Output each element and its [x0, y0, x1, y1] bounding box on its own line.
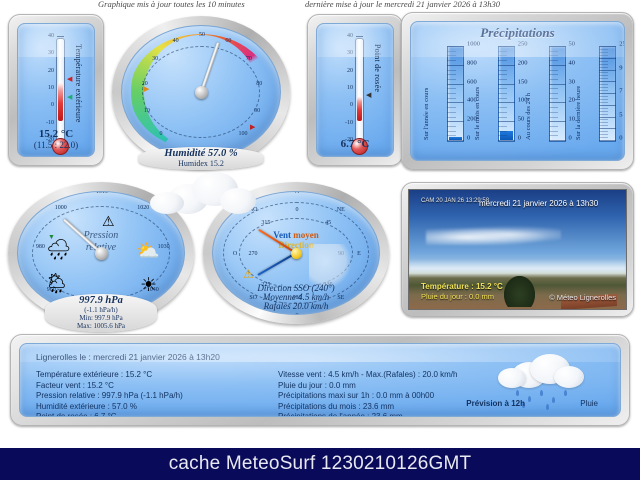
wind-degree-label: 270: [249, 251, 258, 257]
pressure-max: Max: 1005.6 hPa: [45, 322, 157, 330]
status-bar-text: cache MeteoSurf 1230210126GMT: [169, 453, 472, 475]
dewpoint-scale: 403020100-10-20: [329, 36, 355, 144]
precipitation-tick: [599, 70, 616, 71]
wind-gauge-face: NNEESESSOONO04590135180225270315 Vent mo…: [212, 191, 380, 315]
webcam-cloud: [426, 226, 561, 245]
precipitation-minor-tick: [549, 135, 558, 136]
rain-icon: 🌧: [46, 240, 71, 260]
precipitation-minor-tick: [549, 126, 558, 127]
precipitation-minor-tick: [549, 74, 558, 75]
dewpoint-marker-icon: ◀: [366, 92, 371, 99]
precipitation-tick: [447, 46, 464, 47]
precipitation-minor-tick: [447, 98, 456, 99]
status-bar: cache MeteoSurf 1230210126GMT: [0, 448, 640, 480]
precipitation-column: Sur le mois en cours25020015010050023.0 …: [468, 44, 519, 156]
summary-face: Lignerolles le : mercredi 21 janvier 202…: [19, 343, 621, 417]
temperature-value: 15.2 °C: [18, 128, 94, 140]
webcam-temperature: Température : 15.2 °C: [421, 282, 503, 291]
precipitation-column-label: Sur le mois en cours: [474, 50, 481, 140]
precipitation-minor-tick: [498, 135, 507, 136]
precipitation-minor-tick: [599, 119, 608, 120]
partly-sunny-icon: ⛅: [136, 242, 160, 261]
precipitation-minor-tick: [498, 98, 507, 99]
humidity-scale-label: 40: [173, 38, 179, 44]
summary-line: Vitesse vent : 4.5 km/h - Max.(Rafales) …: [278, 370, 457, 381]
summary-right-column: Vitesse vent : 4.5 km/h - Max.(Rafales) …: [278, 370, 457, 417]
precipitation-minor-tick: [447, 88, 456, 89]
temperature-gauge-panel[interactable]: 403020100-10-20 Température extérieure ◀…: [8, 14, 104, 166]
storm-icon: ⚠: [102, 214, 115, 228]
precipitation-minor-tick: [498, 60, 507, 61]
precipitation-minor-tick: [599, 84, 608, 85]
precipitation-minor-tick: [447, 60, 456, 61]
precipitation-column: Au cours des 24 h504030201000.0 mm: [519, 44, 570, 156]
precipitation-tick: [447, 102, 464, 103]
precipitation-column-label: Sur la dernière heure: [575, 50, 582, 140]
precipitation-minor-tick: [447, 70, 456, 71]
dewpoint-tube: [355, 38, 364, 142]
precipitation-minor-tick: [599, 108, 608, 109]
summary-line: Précipitations du mois : 23.6 mm: [278, 402, 457, 413]
summary-line: Point de rosée : 6.7 °C: [36, 412, 183, 417]
precipitation-minor-tick: [599, 52, 608, 53]
precipitation-tick-label: 7: [619, 88, 622, 95]
temperature-tick-label: 10: [48, 85, 54, 91]
pressure-gauge-panel[interactable]: 96098010001010102010301040 Pression rela…: [8, 182, 194, 324]
dewpoint-tick-label: 40: [347, 33, 353, 39]
webcam-panel[interactable]: CAM 20 JAN 26 13:29:58 mercredi 21 janvi…: [401, 182, 634, 317]
webcam-tree: [504, 276, 534, 307]
caption-update-interval: Graphique mis à jour toutes les 10 minut…: [98, 0, 245, 9]
precipitation-tick: [447, 65, 464, 66]
temperature-tick-label: 40: [48, 33, 54, 39]
precipitation-minor-tick: [498, 126, 507, 127]
precipitation-minor-tick: [599, 90, 608, 91]
precipitation-minor-tick: [599, 122, 608, 123]
wind-compass-label: O: [233, 251, 237, 257]
dewpoint-tick-label: 30: [347, 50, 353, 56]
wind-compass-label: NO: [249, 207, 258, 213]
precipitation-minor-tick: [498, 51, 507, 52]
precipitation-minor-tick: [599, 72, 608, 73]
wind-needle-hub: [291, 248, 302, 259]
precipitation-tick: [599, 46, 616, 47]
precipitation-minor-tick: [498, 117, 507, 118]
dewpoint-readout: 6.7 °C: [317, 138, 393, 150]
dewpoint-gauge-face: 403020100-10-20 Point de rosée ◀ 6.7 °C: [316, 23, 394, 157]
dewpoint-tick-label: 0: [350, 102, 353, 108]
precipitation-tick-group: [599, 46, 616, 142]
precipitation-minor-tick: [549, 107, 558, 108]
precipitation-tick: [599, 128, 616, 129]
precipitation-title: Précipitations: [411, 25, 624, 41]
precipitation-minor-tick: [599, 75, 608, 76]
precipitation-tick: [549, 121, 566, 122]
precipitation-tick: [447, 84, 464, 85]
humidity-needle-hub: [195, 86, 208, 99]
webcam-image: CAM 20 JAN 26 13:29:58 mercredi 21 janvi…: [408, 189, 627, 310]
precipitation-minor-tick: [498, 79, 507, 80]
sun-icon: ☀: [140, 276, 157, 295]
humidex-value: Humidex 15.2: [139, 159, 264, 168]
precipitation-tick: [549, 140, 566, 141]
precipitation-minor-tick: [599, 99, 608, 100]
humidity-scale-label: 80: [256, 81, 262, 87]
dewpoint-tick-line: [356, 36, 363, 37]
precipitation-tick-group: [549, 46, 566, 142]
wind-gauge-panel[interactable]: NNEESESSOONO04590135180225270315 Vent mo…: [203, 182, 389, 324]
precipitation-minor-tick: [599, 131, 608, 132]
precipitation-minor-tick: [498, 74, 507, 75]
humidity-scale-label: 70: [246, 56, 252, 62]
precipitation-tick-label: 5: [619, 111, 622, 118]
precipitation-minor-tick: [447, 126, 456, 127]
dewpoint-gauge-title: Point de rosée: [373, 44, 382, 92]
wind-degree-label: 0: [296, 207, 299, 213]
humidity-gauge-face: 0102030405060708090100 ▶ ▶: [121, 25, 281, 159]
summary-line: Pluie du jour : 0.0 mm: [278, 381, 457, 392]
precipitation-minor-tick: [498, 93, 507, 94]
precipitation-tick: [599, 58, 616, 59]
temperature-tick-label: 20: [48, 68, 54, 74]
precipitation-minor-tick: [447, 55, 456, 56]
webcam-haze: [409, 259, 626, 273]
precipitation-tick-group: [447, 46, 464, 142]
precipitation-face: Précipitations Sur l'année en cours10008…: [410, 21, 625, 161]
webcam-copyright: © Méteo Lignerolles: [549, 293, 616, 302]
precipitation-minor-tick: [599, 61, 608, 62]
precipitation-minor-tick: [599, 111, 608, 112]
max-marker-icon: ◀: [67, 76, 72, 83]
wind-sock-icon: [309, 244, 351, 288]
pressure-needle-hub: [95, 247, 108, 260]
wind-degree-label: 315: [261, 220, 270, 226]
humidity-min-marker-icon: ▶: [144, 86, 149, 93]
precipitation-minor-tick: [599, 49, 608, 50]
pressure-scale-label: 1020: [137, 205, 149, 211]
summary-line: Humidité extérieure : 57.0 %: [36, 402, 183, 413]
precipitation-minor-tick: [549, 79, 558, 80]
pressure-scale-label: 1010: [96, 191, 108, 195]
precipitation-tick: [599, 105, 616, 106]
precipitation-minor-tick: [447, 131, 456, 132]
precipitation-tick: [498, 140, 515, 141]
wind-compass-label: S: [295, 313, 298, 315]
weather-dashboard: Graphique mis à jour toutes les 10 minut…: [0, 0, 640, 480]
precipitation-columns: Sur l'année en cours1000800600400200023.…: [417, 44, 620, 156]
temperature-gauge-face: 403020100-10-20 Température extérieure ◀…: [17, 23, 95, 157]
precipitation-tick: [549, 84, 566, 85]
precipitation-minor-tick: [549, 117, 558, 118]
precipitation-tick: [498, 46, 515, 47]
precipitation-tick: [498, 102, 515, 103]
precipitation-minor-tick: [498, 88, 507, 89]
forecast-condition: Pluie: [580, 399, 598, 408]
precipitation-minor-tick: [447, 74, 456, 75]
humidity-scale-label: 0: [159, 131, 162, 137]
summary-line: Pression relative : 997.9 hPa (-1.1 hPa/…: [36, 391, 183, 402]
dewpoint-tick-label: 10: [347, 85, 353, 91]
temperature-tick-label: -10: [46, 120, 54, 126]
precipitation-tick: [498, 65, 515, 66]
wind-gust-text: Rafales 20.0 km/h: [213, 301, 379, 312]
humidity-scale-label: 60: [225, 38, 231, 44]
precipitation-minor-tick: [599, 125, 608, 126]
temperature-tick-label: 0: [51, 102, 54, 108]
webcam-rain: Pluie du jour : 0.0 mm: [421, 292, 494, 301]
precipitation-minor-tick: [498, 55, 507, 56]
precipitation-tick: [447, 140, 464, 141]
precipitation-column-label: Sur l'année en cours: [423, 50, 430, 140]
wind-degree-label: 45: [325, 220, 331, 226]
precipitation-minor-tick: [599, 78, 608, 79]
precipitation-minor-tick: [599, 55, 608, 56]
precipitation-minor-tick: [447, 93, 456, 94]
precipitation-minor-tick: [498, 70, 507, 71]
webcam-timestamp: mercredi 21 janvier 2026 à 13h30: [479, 199, 598, 208]
wind-compass-label: E: [357, 251, 361, 257]
humidity-scale-label: 50: [199, 32, 205, 38]
precipitation-minor-tick: [549, 131, 558, 132]
pressure-trend: (-1.1 hPa/h): [45, 306, 157, 314]
precipitation-column: Sur la dernière heure2597500.0 mm: [569, 44, 620, 156]
summary-line: Température extérieure : 15.2 °C: [36, 370, 183, 381]
precipitation-minor-tick: [599, 87, 608, 88]
caption-last-update: dernière mise à jour le mercredi 21 janv…: [305, 0, 500, 9]
summary-header: Lignerolles le : mercredi 21 janvier 202…: [36, 352, 220, 362]
precipitation-column-label: Au cours des 24 h: [525, 50, 532, 140]
humidity-scale-label: 30: [152, 56, 158, 62]
precipitation-minor-tick: [599, 64, 608, 65]
forecast-label: Prévision à 12h: [466, 399, 525, 408]
pressure-min: Min: 997.9 hPa: [45, 314, 157, 322]
precipitation-minor-tick: [498, 107, 507, 108]
precipitation-minor-tick: [599, 67, 608, 68]
precipitation-panel[interactable]: Précipitations Sur l'année en cours10008…: [401, 12, 634, 170]
wind-warning-icon: ⚠: [243, 268, 254, 280]
humidity-gauge-panel[interactable]: 0102030405060708090100 ▶ ▶ Humidité 57.0…: [112, 16, 290, 168]
precipitation-tick-label: 0: [619, 135, 622, 142]
cloud-icon: 🌦: [44, 274, 69, 294]
precipitation-tick: [549, 46, 566, 47]
precipitation-minor-tick: [447, 107, 456, 108]
precipitation-minor-tick: [549, 51, 558, 52]
precipitation-minor-tick: [447, 117, 456, 118]
precipitation-tick: [498, 84, 515, 85]
precipitation-minor-tick: [599, 114, 608, 115]
pressure-min-marker-icon: ▼: [48, 234, 55, 241]
precipitation-minor-tick: [599, 137, 608, 138]
wind-compass-label: NE: [337, 207, 345, 213]
precipitation-tick: [599, 117, 616, 118]
precipitation-minor-tick: [447, 51, 456, 52]
humidity-value: Humidité 57.0 %: [139, 148, 264, 159]
summary-panel[interactable]: Lignerolles le : mercredi 21 janvier 202…: [10, 334, 630, 426]
dewpoint-tick-label: 20: [347, 68, 353, 74]
pressure-scale-label: 1000: [55, 205, 67, 211]
summary-line: Précipitations de l'année : 23.6 mm: [278, 412, 457, 417]
precipitation-column: Sur l'année en cours1000800600400200023.…: [417, 44, 468, 156]
wind-title-part2: moyen: [293, 230, 319, 240]
precipitation-minor-tick: [447, 135, 456, 136]
summary-left-column: Température extérieure : 15.2 °CFacteur …: [36, 370, 183, 417]
humidity-scale-label: 10: [144, 108, 150, 114]
precipitation-tick: [599, 81, 616, 82]
top-caption: Graphique mis à jour toutes les 10 minut…: [0, 0, 640, 12]
precipitation-minor-tick: [549, 70, 558, 71]
temperature-readout: 15.2 °C (11.5 : 22.0): [18, 128, 94, 150]
humidity-readout: Humidité 57.0 % Humidex 15.2: [139, 147, 264, 170]
precipitation-tick: [549, 65, 566, 66]
humidity-max-marker-icon: ▶: [250, 124, 255, 131]
pressure-value: 997.9 hPa: [45, 295, 157, 306]
dewpoint-mercury: [357, 96, 362, 121]
humidity-scale-label: 100: [239, 131, 248, 137]
precipitation-tick: [599, 93, 616, 94]
precipitation-tick: [498, 121, 515, 122]
precipitation-minor-tick: [599, 96, 608, 97]
pressure-readout: 997.9 hPa (-1.1 hPa/h) Min: 997.9 hPa Ma…: [45, 294, 157, 332]
humidity-scale-label: 90: [254, 108, 260, 114]
precipitation-tick: [599, 140, 616, 141]
precipitation-minor-tick: [599, 134, 608, 135]
summary-line: Facteur vent : 15.2 °C: [36, 381, 183, 392]
precipitation-minor-tick: [549, 60, 558, 61]
dewpoint-tick-label: -10: [345, 120, 353, 126]
temperature-gauge-title: Température extérieure: [74, 44, 83, 123]
precipitation-tick-label: 9: [619, 64, 622, 71]
precipitation-minor-tick: [498, 131, 507, 132]
precipitation-minor-tick: [549, 98, 558, 99]
min-marker-icon: ◀: [67, 94, 72, 101]
precipitation-tick: [549, 102, 566, 103]
precipitation-minor-tick: [549, 55, 558, 56]
wind-compass-label: N: [295, 191, 299, 195]
precipitation-minor-tick: [447, 79, 456, 80]
precipitation-minor-tick: [549, 93, 558, 94]
precipitation-minor-tick: [498, 112, 507, 113]
dewpoint-value: 6.7 °C: [317, 138, 393, 150]
precipitation-tick-group: [498, 46, 515, 142]
dewpoint-gauge-panel[interactable]: 403020100-10-20 Point de rosée ◀ 6.7 °C: [307, 14, 403, 166]
precipitation-tick-label: 25: [619, 41, 625, 48]
temperature-range: (11.5 : 22.0): [18, 140, 94, 150]
thermometer-mercury: [58, 82, 63, 121]
temperature-tick-line: [57, 36, 64, 37]
precipitation-tick: [447, 121, 464, 122]
temperature-tick-label: 30: [48, 50, 54, 56]
precipitation-minor-tick: [549, 88, 558, 89]
precipitation-minor-tick: [599, 102, 608, 103]
precipitation-minor-tick: [549, 112, 558, 113]
summary-line: Précipitations maxi sur 1h : 0.0 mm à 00…: [278, 391, 457, 402]
precipitation-minor-tick: [447, 112, 456, 113]
